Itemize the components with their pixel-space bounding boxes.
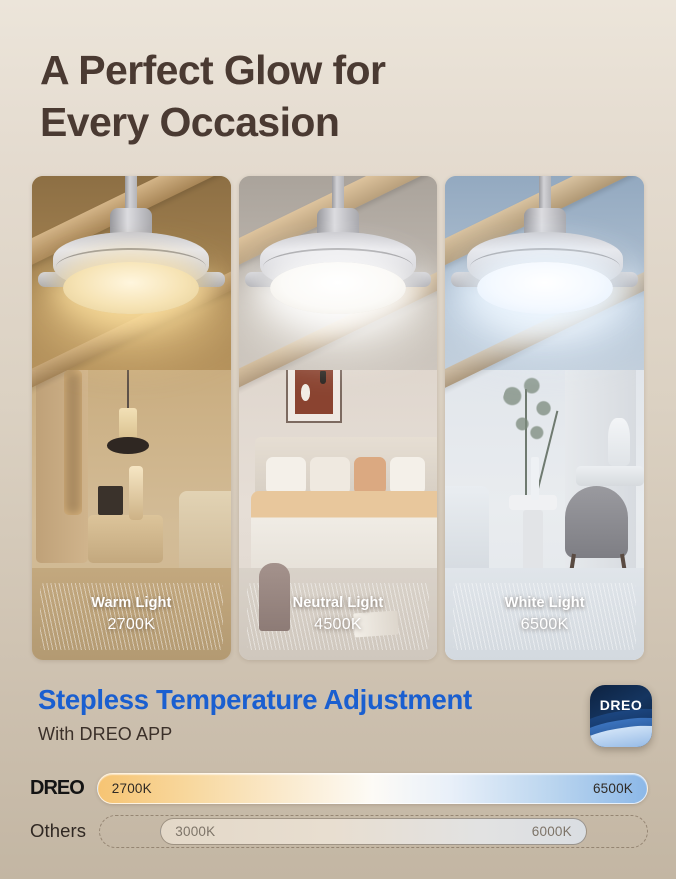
nightstand bbox=[88, 515, 163, 563]
others-full-range-track: 3000K 6000K bbox=[99, 815, 648, 848]
panel-kelvin: 6500K bbox=[445, 616, 644, 634]
dreo-brand-label: DREO bbox=[30, 777, 84, 800]
others-brand-label: Others bbox=[30, 820, 86, 842]
desk-lamp bbox=[608, 418, 630, 466]
niche-shelf bbox=[64, 370, 82, 515]
armchair bbox=[565, 486, 629, 559]
pillow-center bbox=[310, 457, 350, 496]
pillow-accent bbox=[354, 457, 386, 496]
panel-warm-light[interactable]: Warm Light 2700K bbox=[32, 176, 231, 660]
decor-objects bbox=[98, 486, 124, 515]
scene-neutral bbox=[239, 176, 438, 660]
plant-foliage bbox=[501, 370, 557, 457]
side-table-base bbox=[523, 510, 543, 573]
panel-name: White Light bbox=[445, 595, 644, 611]
dreo-temperature-track[interactable]: 2700K 6500K bbox=[97, 773, 648, 804]
panel-kelvin: 2700K bbox=[32, 616, 231, 634]
page-title: A Perfect Glow for Every Occasion bbox=[40, 44, 620, 148]
feature-title: Stepless Temperature Adjustment bbox=[38, 684, 472, 716]
pendant-disc bbox=[107, 437, 149, 453]
comparison-row-dreo: DREO 2700K 6500K bbox=[30, 772, 648, 804]
panel-name: Neutral Light bbox=[239, 595, 438, 611]
light-lens-warm bbox=[63, 262, 199, 314]
dreo-wordmark: DREO bbox=[30, 777, 84, 799]
panel-caption-white: White Light 6500K bbox=[445, 595, 644, 634]
others-max-kelvin: 6000K bbox=[532, 824, 572, 839]
art-cup-shape bbox=[320, 371, 326, 384]
light-temperature-panels: Warm Light 2700K bbox=[32, 176, 644, 660]
decor-figure bbox=[129, 466, 143, 519]
pillow-left bbox=[266, 457, 306, 496]
panel-neutral-light[interactable]: Neutral Light 4500K bbox=[239, 176, 438, 660]
panel-name: Warm Light bbox=[32, 595, 231, 611]
panel-caption-warm: Warm Light 2700K bbox=[32, 595, 231, 634]
light-lens-neutral bbox=[270, 262, 406, 314]
light-lens-cool bbox=[477, 262, 613, 314]
panel-caption-neutral: Neutral Light 4500K bbox=[239, 595, 438, 634]
dreo-max-kelvin: 6500K bbox=[593, 781, 633, 796]
vase bbox=[531, 457, 539, 501]
page-title-line-2: Every Occasion bbox=[40, 96, 620, 148]
page-title-line-1: A Perfect Glow for bbox=[40, 47, 385, 93]
others-wordmark: Others bbox=[30, 820, 86, 841]
dreo-app-icon[interactable]: DREO bbox=[590, 685, 652, 747]
dreo-min-kelvin: 2700K bbox=[112, 781, 152, 796]
comparison-row-others: Others 3000K 6000K bbox=[30, 814, 648, 848]
scene-warm bbox=[32, 176, 231, 660]
pillow-right bbox=[390, 457, 426, 496]
panel-white-light[interactable]: White Light 6500K bbox=[445, 176, 644, 660]
others-min-kelvin: 3000K bbox=[175, 824, 215, 839]
feature-subtitle: With DREO APP bbox=[38, 724, 172, 745]
panel-kelvin: 4500K bbox=[239, 616, 438, 634]
art-circle-shape bbox=[301, 384, 311, 401]
others-temperature-track: 3000K 6000K bbox=[160, 818, 587, 845]
scene-cool bbox=[445, 176, 644, 660]
desk bbox=[576, 466, 644, 485]
app-icon-label: DREO bbox=[590, 697, 652, 713]
